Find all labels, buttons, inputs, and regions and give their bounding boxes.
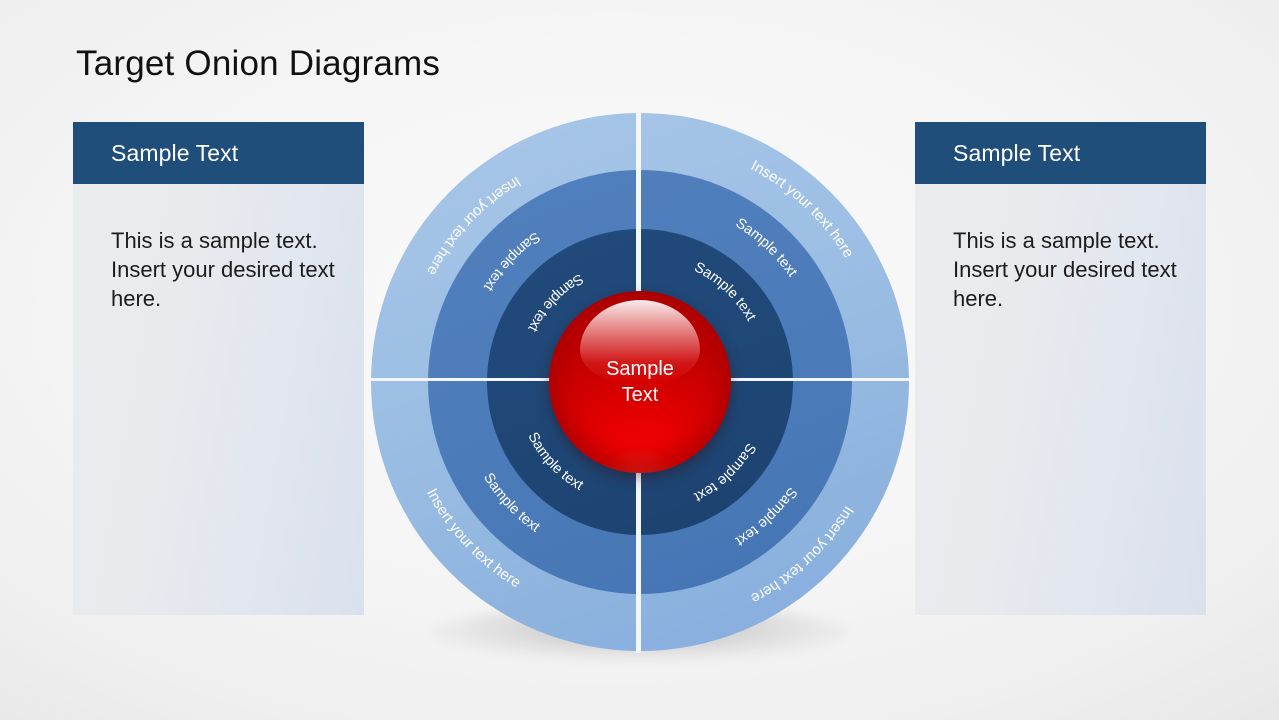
right-panel-body-text: This is a sample text. Insert your desir… bbox=[953, 226, 1182, 313]
core-label: Sample Text bbox=[549, 291, 731, 473]
core-sphere[interactable]: Sample Text bbox=[549, 291, 731, 473]
slide-canvas: Target Onion Diagrams Sample Text This i… bbox=[0, 0, 1279, 720]
right-panel-body[interactable]: This is a sample text. Insert your desir… bbox=[915, 184, 1206, 615]
left-text-panel[interactable]: Sample Text This is a sample text. Inser… bbox=[73, 122, 364, 615]
page-title: Target Onion Diagrams bbox=[76, 44, 440, 84]
core-label-line1: Sample bbox=[606, 356, 674, 382]
right-panel-header[interactable]: Sample Text bbox=[915, 122, 1206, 184]
right-panel-header-label: Sample Text bbox=[953, 140, 1080, 167]
core-label-line2: Text bbox=[622, 382, 659, 408]
left-panel-body-text: This is a sample text. Insert your desir… bbox=[111, 226, 340, 313]
onion-diagram[interactable]: Insert your text here Insert your text h… bbox=[371, 113, 909, 651]
left-panel-header-label: Sample Text bbox=[111, 140, 238, 167]
right-text-panel[interactable]: Sample Text This is a sample text. Inser… bbox=[915, 122, 1206, 615]
left-panel-header[interactable]: Sample Text bbox=[73, 122, 364, 184]
left-panel-body[interactable]: This is a sample text. Insert your desir… bbox=[73, 184, 364, 615]
